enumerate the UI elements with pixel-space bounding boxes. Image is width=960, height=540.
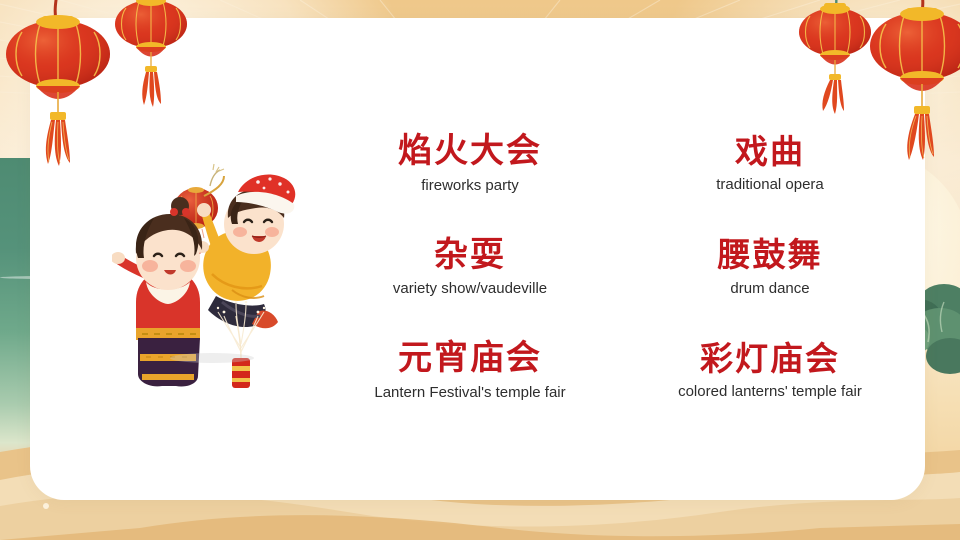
activity-item-lantern-festival-temple-fair[interactable]: 元宵庙会 Lantern Festival's temple fair <box>310 339 630 401</box>
activity-title-en: drum dance <box>630 280 910 298</box>
activity-title-cn: 杂耍 <box>310 236 630 275</box>
activity-title-en: colored lanterns' temple fair <box>630 383 910 401</box>
two-children-illustration <box>112 162 322 394</box>
lantern-top-left-small <box>108 0 194 119</box>
activity-item-traditional-opera[interactable]: 戏曲 traditional opera <box>630 133 910 194</box>
activity-title-en: traditional opera <box>630 176 910 194</box>
activity-title-cn: 腰鼓舞 <box>630 236 910 274</box>
activity-item-variety-show[interactable]: 杂耍 variety show/vaudeville <box>310 236 630 298</box>
activity-title-cn: 戏曲 <box>630 133 910 171</box>
activity-list: 焰火大会 fireworks party 戏曲 traditional oper… <box>310 112 910 422</box>
activity-title-cn: 元宵庙会 <box>310 339 630 378</box>
activity-item-fireworks-party[interactable]: 焰火大会 fireworks party <box>310 132 630 194</box>
activity-title-cn: 彩灯庙会 <box>630 340 910 378</box>
activity-title-cn: 焰火大会 <box>310 132 630 171</box>
activity-title-en: Lantern Festival's temple fair <box>310 384 630 402</box>
activity-item-drum-dance[interactable]: 腰鼓舞 drum dance <box>630 236 910 297</box>
slide-root: 焰火大会 fireworks party 戏曲 traditional oper… <box>0 0 960 540</box>
activity-title-en: variety show/vaudeville <box>310 280 630 298</box>
activity-title-en: fireworks party <box>310 177 630 195</box>
lantern-top-left-large <box>0 0 118 176</box>
activity-item-colored-lanterns-temple-fair[interactable]: 彩灯庙会 colored lanterns' temple fair <box>630 340 910 401</box>
